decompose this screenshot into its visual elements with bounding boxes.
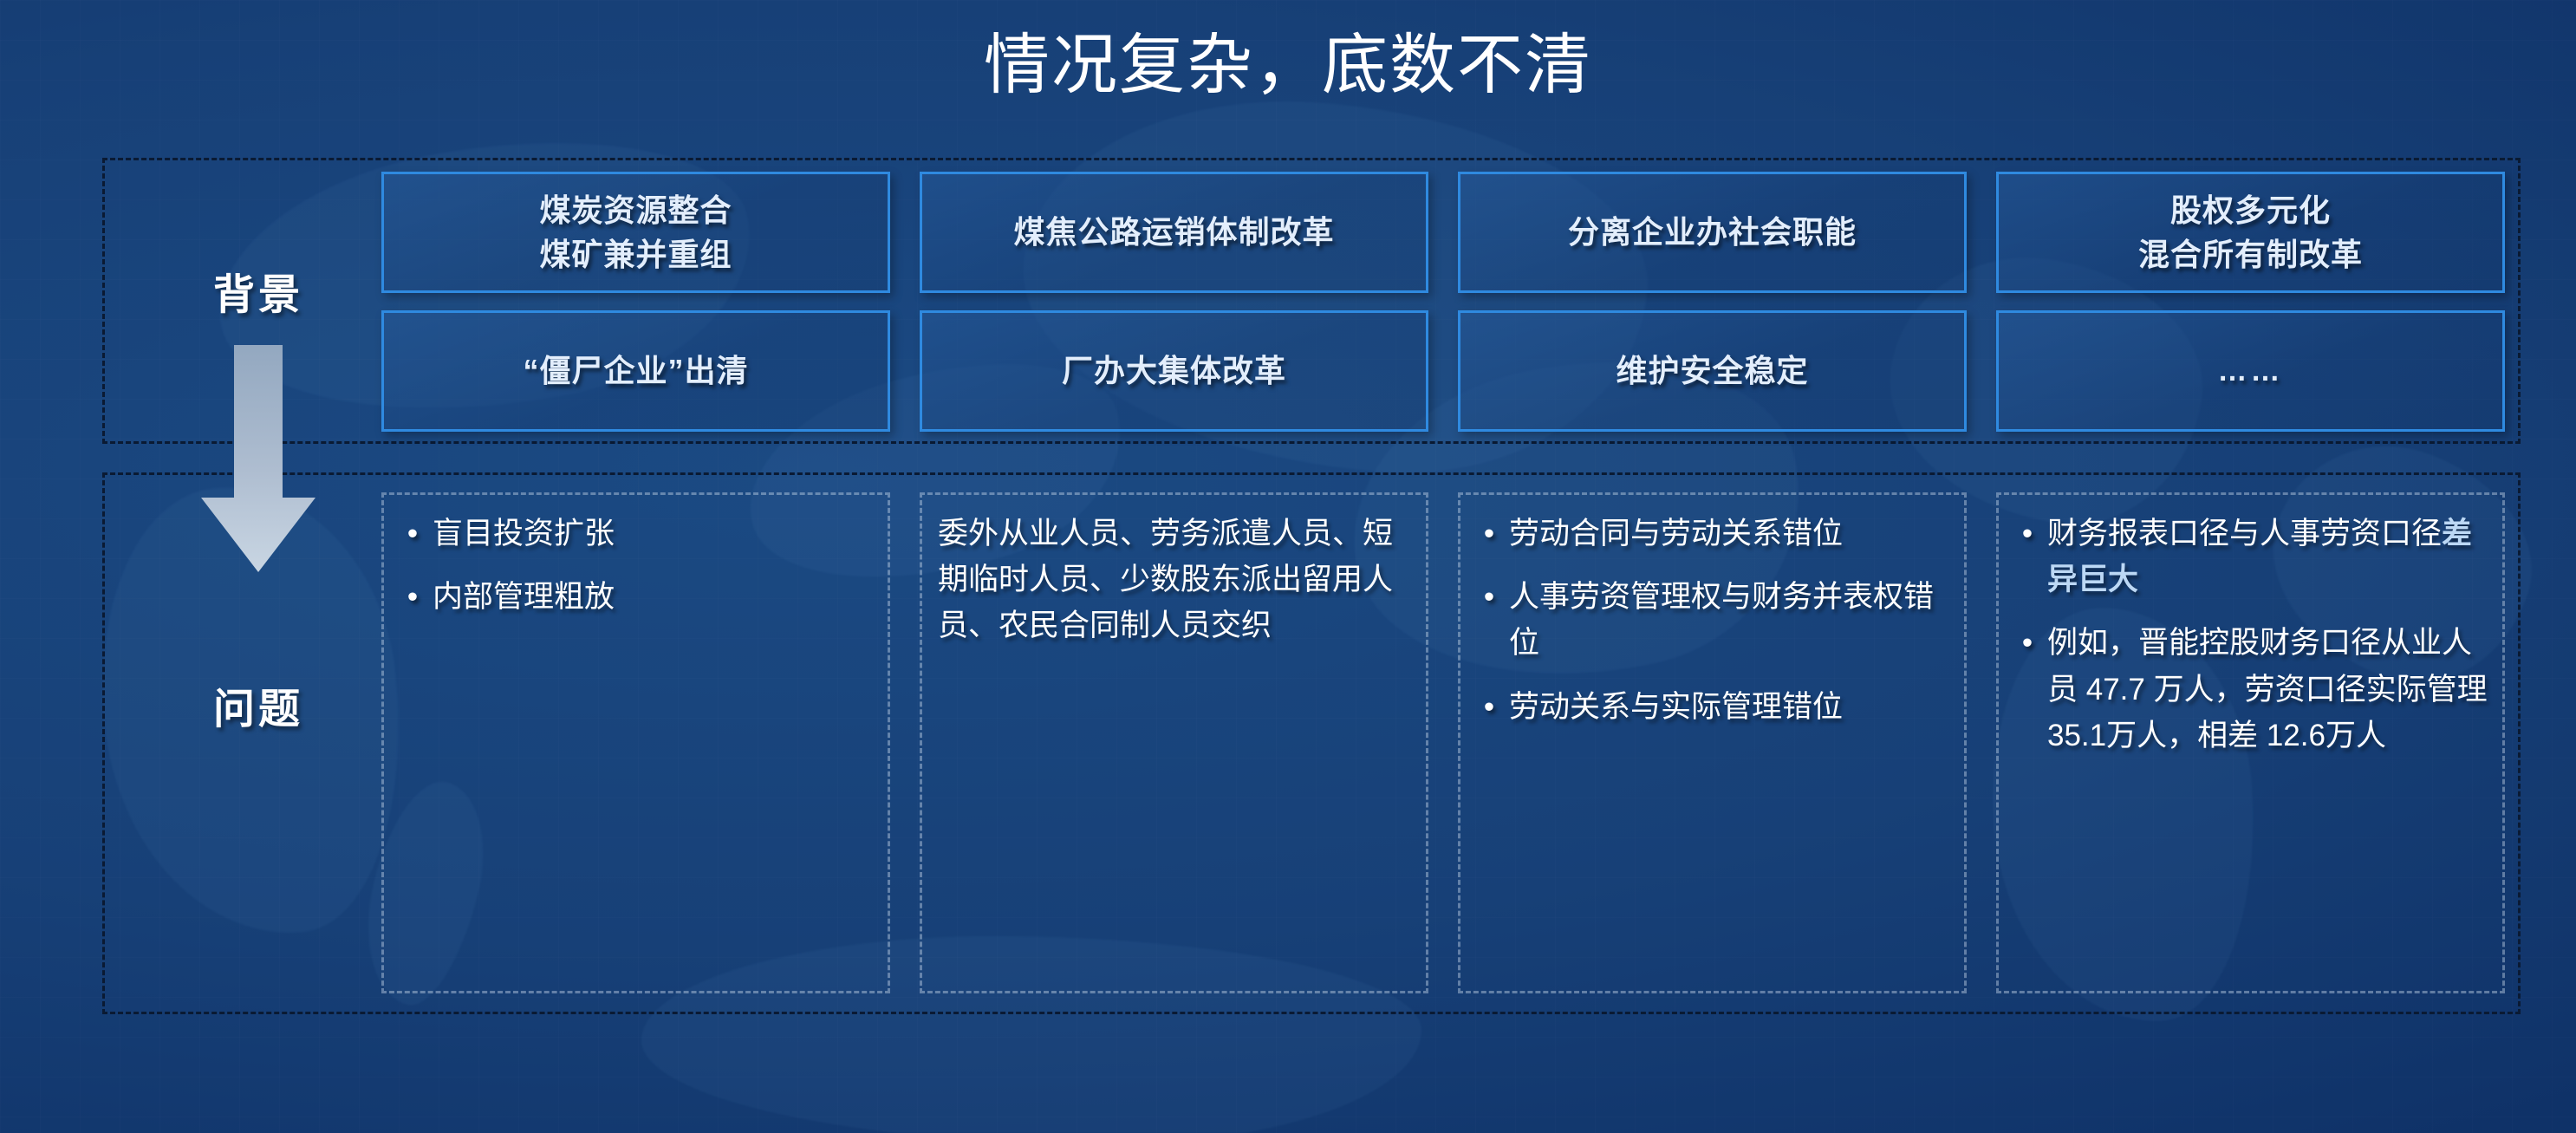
problem-column: • 劳动合同与劳动关系错位 • 人事劳资管理权与财务并表权错位 • 劳动关系与实… <box>1458 492 1967 993</box>
background-tile-line1: 煤焦公路运销体制改革 <box>1013 210 1334 254</box>
bullet-icon: • <box>2007 620 2047 666</box>
list-item-text: 劳动合同与劳动关系错位 <box>1509 511 1950 557</box>
list-item: • 例如，晋能控股财务口径从业人员 47.7 万人，劳资口径实际管理 35.1万… <box>2007 620 2488 759</box>
background-tile-line2: 煤矿兼并重组 <box>539 232 732 277</box>
list-item-text: 人事劳资管理权与财务并表权错位 <box>1509 574 1950 666</box>
background-tile-line1: 股权多元化 <box>2170 188 2331 232</box>
background-tile-grid: 煤炭资源整合 煤矿兼并重组 煤焦公路运销体制改革 分离企业办社会职能 股权多元化… <box>381 172 2505 432</box>
background-tile[interactable]: 股权多元化 混合所有制改革 <box>1996 172 2505 293</box>
background-tile-line1: 分离企业办社会职能 <box>1568 210 1857 254</box>
list-item: • 内部管理粗放 <box>393 574 874 620</box>
list-item: • 劳动关系与实际管理错位 <box>1469 684 1950 730</box>
problem-column: • 盲目投资扩张 • 内部管理粗放 <box>381 492 890 993</box>
background-tile-line1: 煤炭资源整合 <box>539 188 732 232</box>
background-tile[interactable]: “僵尸企业”出清 <box>381 310 890 432</box>
problem-column: • 财务报表口径与人事劳资口径差异巨大 • 例如，晋能控股财务口径从业人员 47… <box>1996 492 2505 993</box>
down-arrow-icon <box>201 345 315 572</box>
list-item: • 盲目投资扩张 <box>393 511 874 557</box>
background-tile[interactable]: …… <box>1996 310 2505 432</box>
problem-column-grid: • 盲目投资扩张 • 内部管理粗放 委外从业人员、劳务派遣人员、短期临时人员、少… <box>381 492 2505 993</box>
background-tile[interactable]: 分离企业办社会职能 <box>1458 172 1967 293</box>
list-item-text: 财务报表口径与人事劳资口径差异巨大 <box>2047 511 2488 602</box>
bullet-icon: • <box>393 511 433 557</box>
page-title: 情况复杂，底数不清 <box>0 24 2576 107</box>
bullet-icon: • <box>1469 511 1509 557</box>
rail-label-problems: 问题 <box>154 674 362 735</box>
background-tile[interactable]: 维护安全稳定 <box>1458 310 1967 432</box>
list-item: • 人事劳资管理权与财务并表权错位 <box>1469 574 1950 666</box>
background-tile[interactable]: 煤焦公路运销体制改革 <box>920 172 1428 293</box>
background-tile[interactable]: 煤炭资源整合 煤矿兼并重组 <box>381 172 890 293</box>
background-tile-line1: …… <box>2218 350 2284 392</box>
background-tile-line1: “僵尸企业”出清 <box>523 348 748 393</box>
list-item: • 财务报表口径与人事劳资口径差异巨大 <box>2007 511 2488 602</box>
list-item-text: 劳动关系与实际管理错位 <box>1509 684 1950 730</box>
rail-label-background: 背景 <box>154 260 362 321</box>
list-item-text: 例如，晋能控股财务口径从业人员 47.7 万人，劳资口径实际管理 35.1万人，… <box>2047 620 2488 759</box>
background-tile-line2: 混合所有制改革 <box>2138 232 2363 277</box>
list-item-text: 内部管理粗放 <box>433 574 874 620</box>
background-tile-line1: 维护安全稳定 <box>1616 348 1808 393</box>
list-item-text: 盲目投资扩张 <box>433 511 874 557</box>
paragraph-text: 委外从业人员、劳务派遣人员、短期临时人员、少数股东派出留用人员、农民合同制人员交… <box>938 511 1412 649</box>
bullet-icon: • <box>2007 511 2047 557</box>
bullet-icon: • <box>1469 684 1509 730</box>
bullet-icon: • <box>1469 574 1509 620</box>
list-item-text-pre: 财务报表口径与人事劳资口径 <box>2047 517 2442 550</box>
list-item: • 劳动合同与劳动关系错位 <box>1469 511 1950 557</box>
background-tile[interactable]: 厂办大集体改革 <box>920 310 1428 432</box>
bullet-icon: • <box>393 574 433 620</box>
problem-column: 委外从业人员、劳务派遣人员、短期临时人员、少数股东派出留用人员、农民合同制人员交… <box>920 492 1428 993</box>
background-tile-line1: 厂办大集体改革 <box>1062 348 1286 393</box>
